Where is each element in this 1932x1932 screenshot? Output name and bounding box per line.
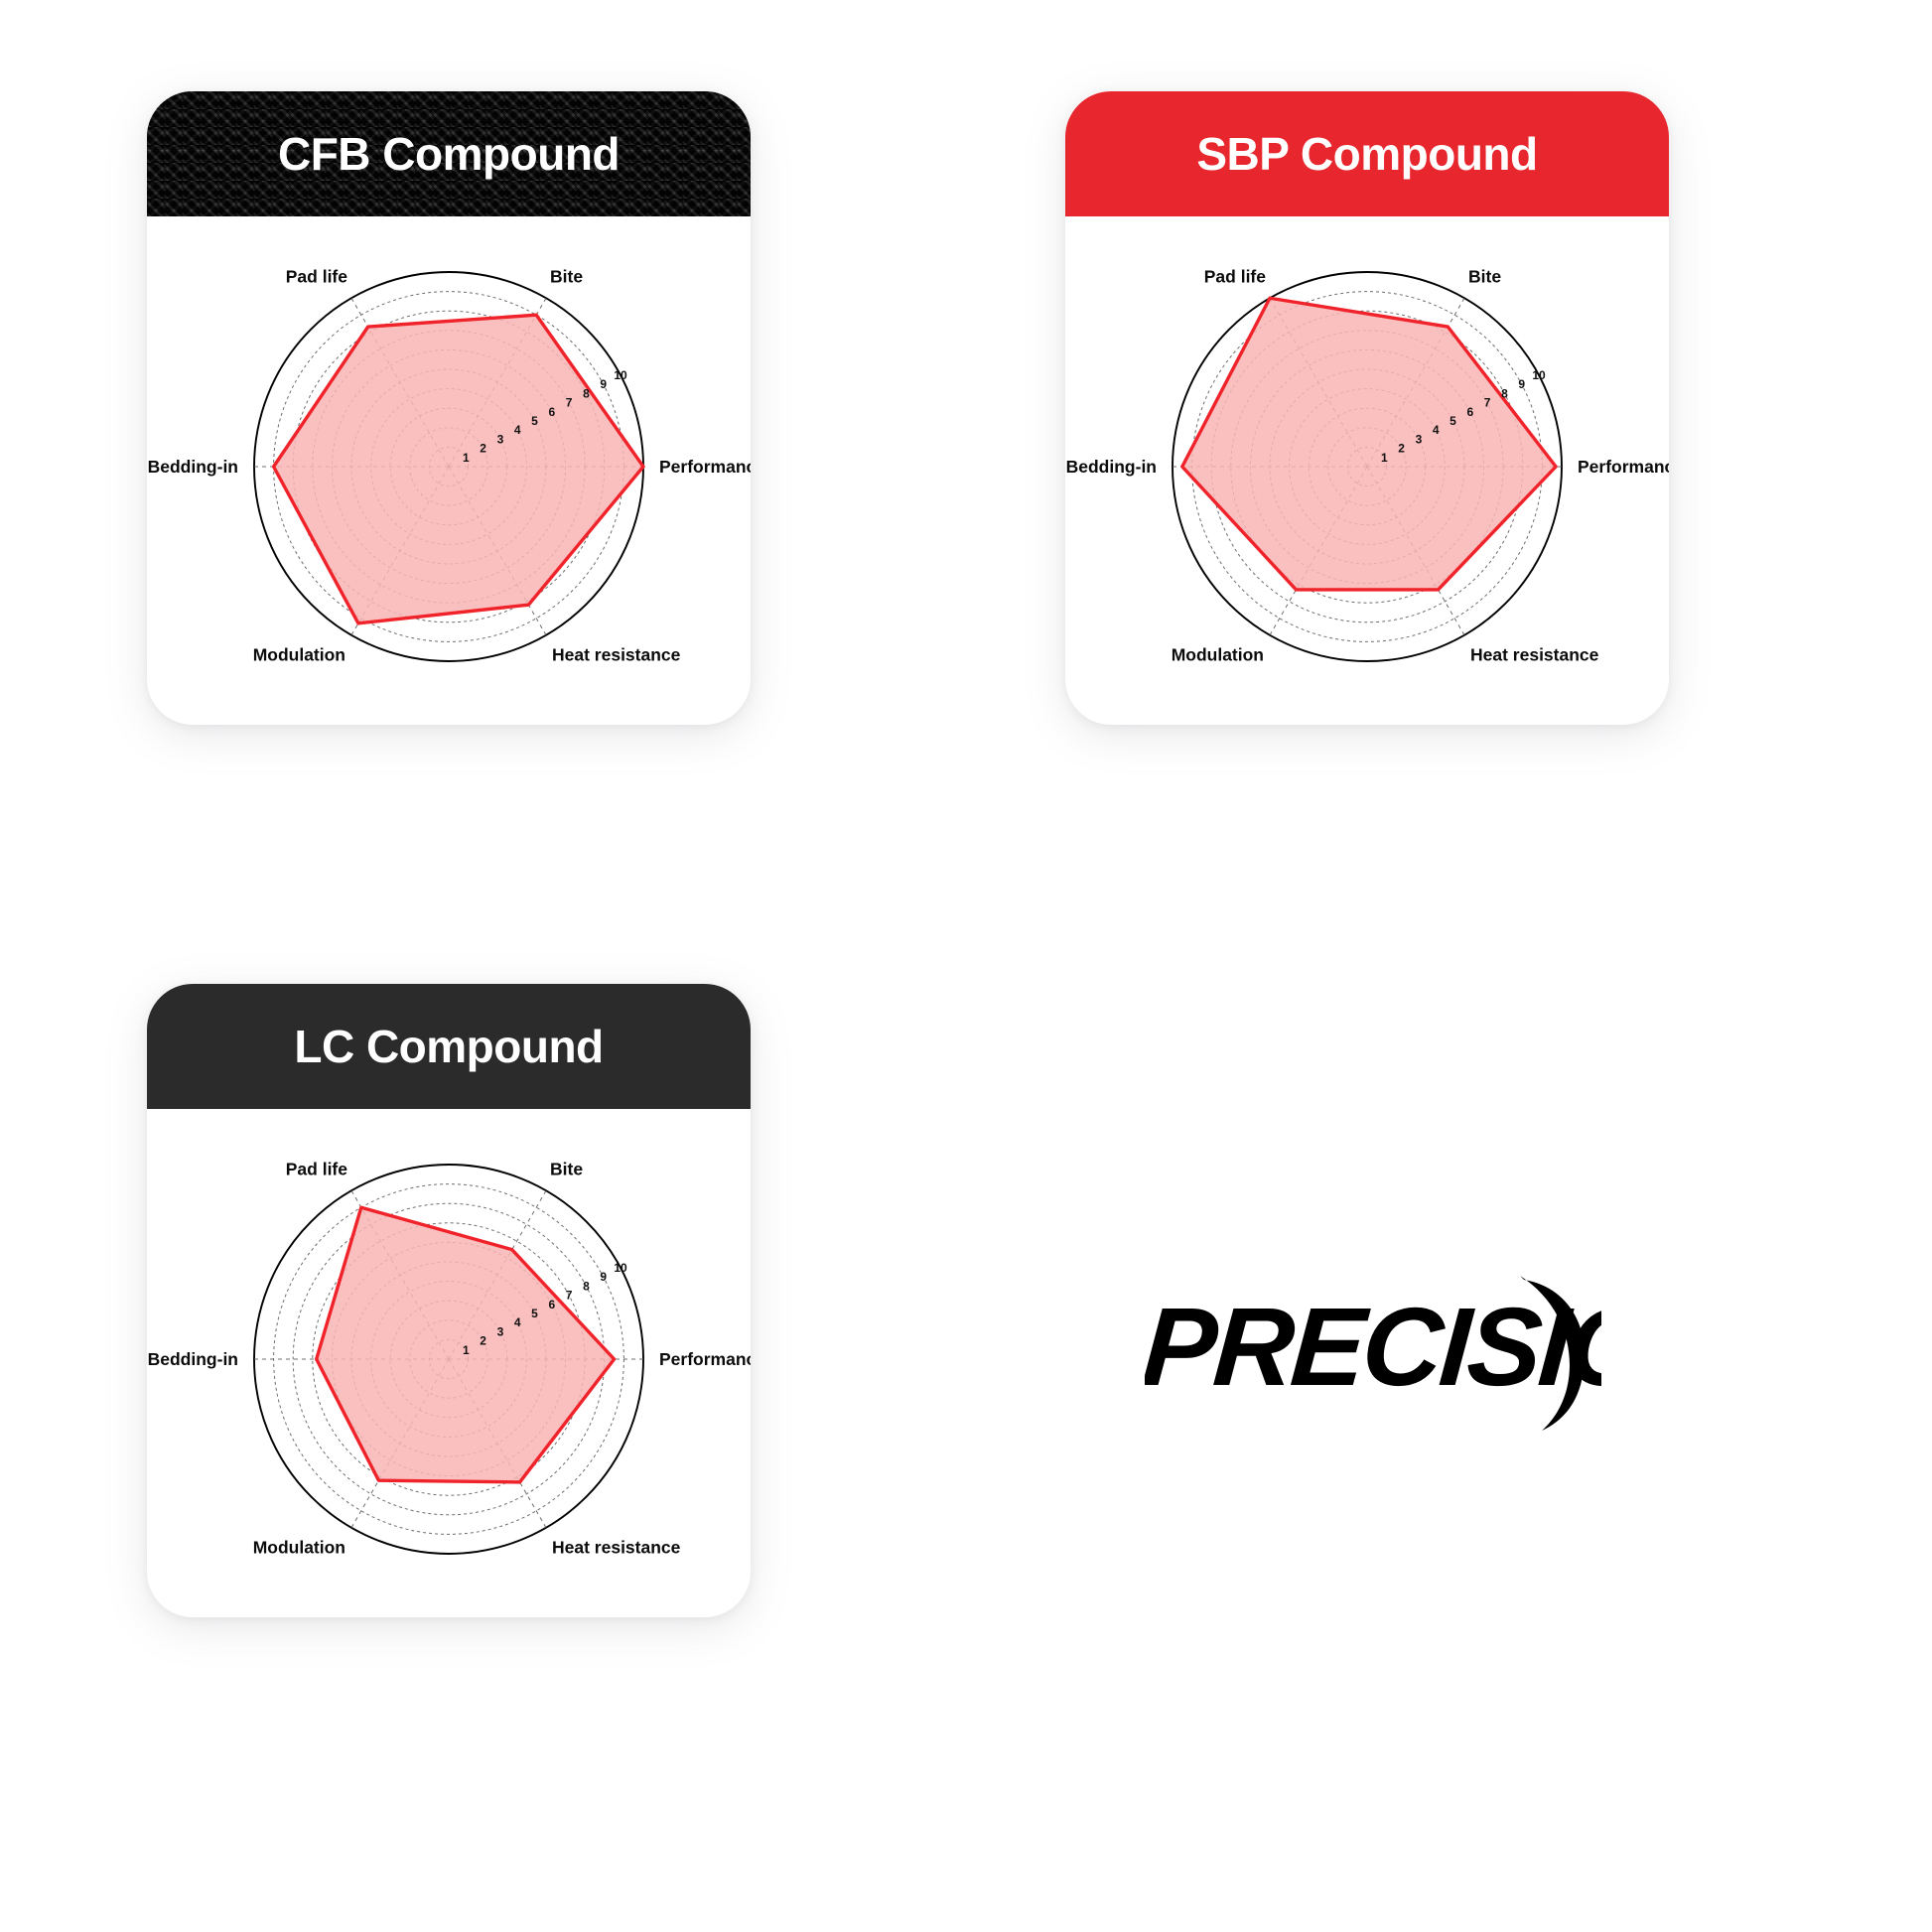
grid-cell-cfb: CFB Compound 12345678910BitePerformanceH… [0, 0, 966, 966]
radial-tick-label: 1 [463, 1343, 470, 1357]
radar-axis-label: Pad life [286, 1159, 348, 1178]
radial-tick-label: 7 [566, 1289, 573, 1303]
radial-tick-label: 2 [1398, 442, 1405, 456]
radial-tick-label: 2 [480, 1334, 486, 1348]
radar-chart-sbp: 12345678910BitePerformanceHeat resistanc… [1065, 216, 1669, 725]
radar-axis-label: Modulation [1172, 645, 1264, 665]
radar-axis-label: Bite [550, 1159, 583, 1178]
grid-cell-brand: PRECISION [966, 966, 1932, 1932]
radar-axis-label: Pad life [1204, 266, 1267, 286]
radar-axis-label: Performance [659, 457, 751, 477]
radar-series-polygon [1182, 298, 1556, 590]
compound-card-sbp[interactable]: SBP Compound 12345678910BitePerformanceH… [1065, 91, 1669, 725]
radar-axis-label: Heat resistance [1470, 645, 1599, 665]
grid-cell-lc: LC Compound 12345678910BitePerformanceHe… [0, 966, 966, 1932]
radial-tick-label: 8 [1501, 386, 1508, 400]
radar-axis-label: Performance [659, 1349, 751, 1369]
radial-tick-label: 4 [514, 1315, 521, 1329]
radial-tick-label: 2 [480, 442, 486, 456]
radar-chart-lc: 12345678910BitePerformanceHeat resistanc… [147, 1109, 751, 1617]
radar-axis-label: Bedding-in [1066, 457, 1157, 477]
radial-tick-label: 6 [548, 1298, 555, 1311]
card-header-lc: LC Compound [147, 984, 751, 1109]
radial-tick-label: 5 [531, 414, 538, 428]
card-title-cfb: CFB Compound [278, 127, 620, 181]
radar-axis-label: Heat resistance [552, 1538, 681, 1558]
radial-tick-label: 1 [1381, 451, 1388, 465]
radar-axis-label: Modulation [253, 1538, 345, 1558]
radial-tick-label: 9 [600, 1270, 607, 1284]
radial-tick-label: 8 [583, 386, 590, 400]
radial-tick-label: 5 [531, 1307, 538, 1320]
radial-tick-label: 10 [614, 1261, 627, 1275]
radar-axis-label: Bedding-in [148, 1349, 238, 1369]
precision-logo: PRECISION [1145, 1264, 1601, 1433]
radial-tick-label: 9 [600, 377, 607, 391]
radial-tick-label: 3 [497, 432, 504, 446]
grid-cell-sbp: SBP Compound 12345678910BitePerformanceH… [966, 0, 1932, 966]
card-header-sbp: SBP Compound [1065, 91, 1669, 216]
radial-tick-label: 9 [1518, 377, 1525, 391]
radial-tick-label: 6 [548, 405, 555, 419]
radial-tick-label: 1 [463, 451, 470, 465]
radar-axis-label: Heat resistance [552, 645, 681, 665]
radial-tick-label: 7 [1484, 396, 1491, 410]
radar-axis-label: Performance [1578, 457, 1669, 477]
precision-wordmark: PRECISION [1145, 1284, 1601, 1409]
radar-chart-cfb: 12345678910BitePerformanceHeat resistanc… [147, 216, 751, 725]
radial-tick-label: 6 [1466, 405, 1473, 419]
radial-tick-label: 8 [583, 1279, 590, 1293]
radial-tick-label: 10 [1532, 368, 1546, 382]
radar-axis-label: Bite [1468, 266, 1501, 286]
card-title-lc: LC Compound [294, 1020, 603, 1073]
radial-tick-label: 3 [1416, 432, 1423, 446]
radar-axis-label: Bedding-in [148, 457, 238, 477]
card-title-sbp: SBP Compound [1196, 127, 1537, 181]
compound-card-cfb[interactable]: CFB Compound 12345678910BitePerformanceH… [147, 91, 751, 725]
radar-axis-label: Bite [550, 266, 583, 286]
radar-axis-label: Modulation [253, 645, 345, 665]
radial-tick-label: 5 [1449, 414, 1456, 428]
compound-card-lc[interactable]: LC Compound 12345678910BitePerformanceHe… [147, 984, 751, 1617]
radar-axis-label: Pad life [286, 266, 348, 286]
radial-tick-label: 10 [614, 368, 627, 382]
compound-cards-grid: CFB Compound 12345678910BitePerformanceH… [0, 0, 1932, 1932]
radial-tick-label: 4 [514, 423, 521, 437]
card-header-cfb: CFB Compound [147, 91, 751, 216]
radar-series-polygon [274, 315, 643, 623]
radial-tick-label: 3 [497, 1324, 504, 1338]
radial-tick-label: 4 [1433, 423, 1440, 437]
radial-tick-label: 7 [566, 396, 573, 410]
